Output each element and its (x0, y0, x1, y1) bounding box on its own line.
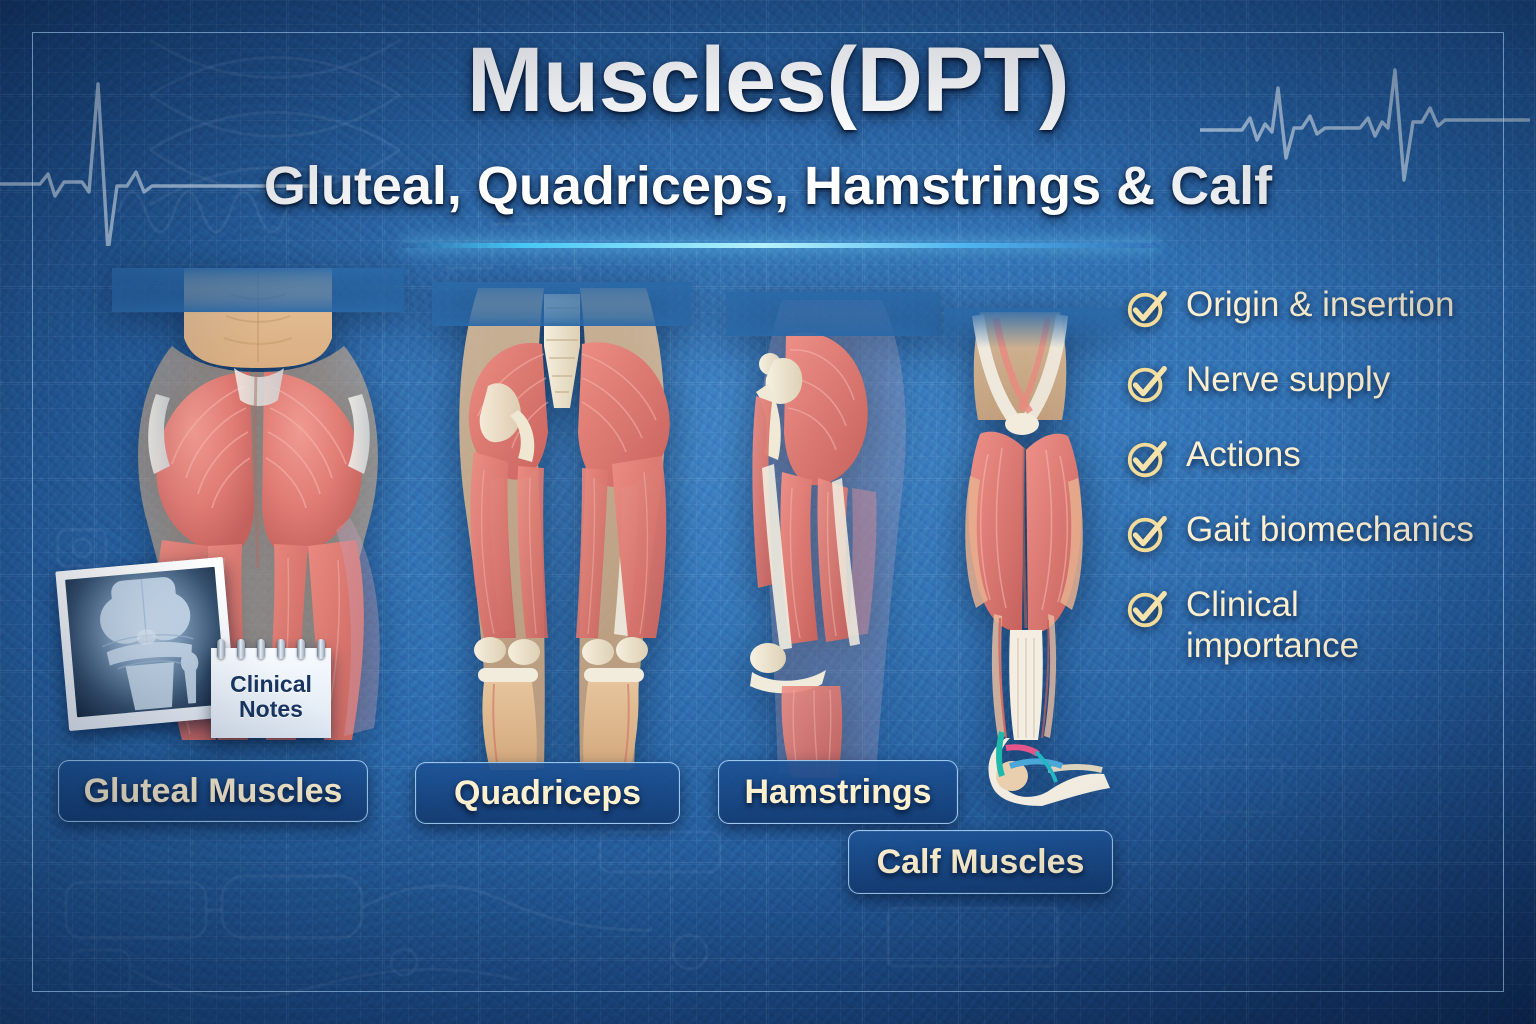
decorative-border-frame (32, 32, 1504, 992)
slide-root: Muscles(DPT) Gluteal, Quadriceps, Hamstr… (0, 0, 1536, 1024)
